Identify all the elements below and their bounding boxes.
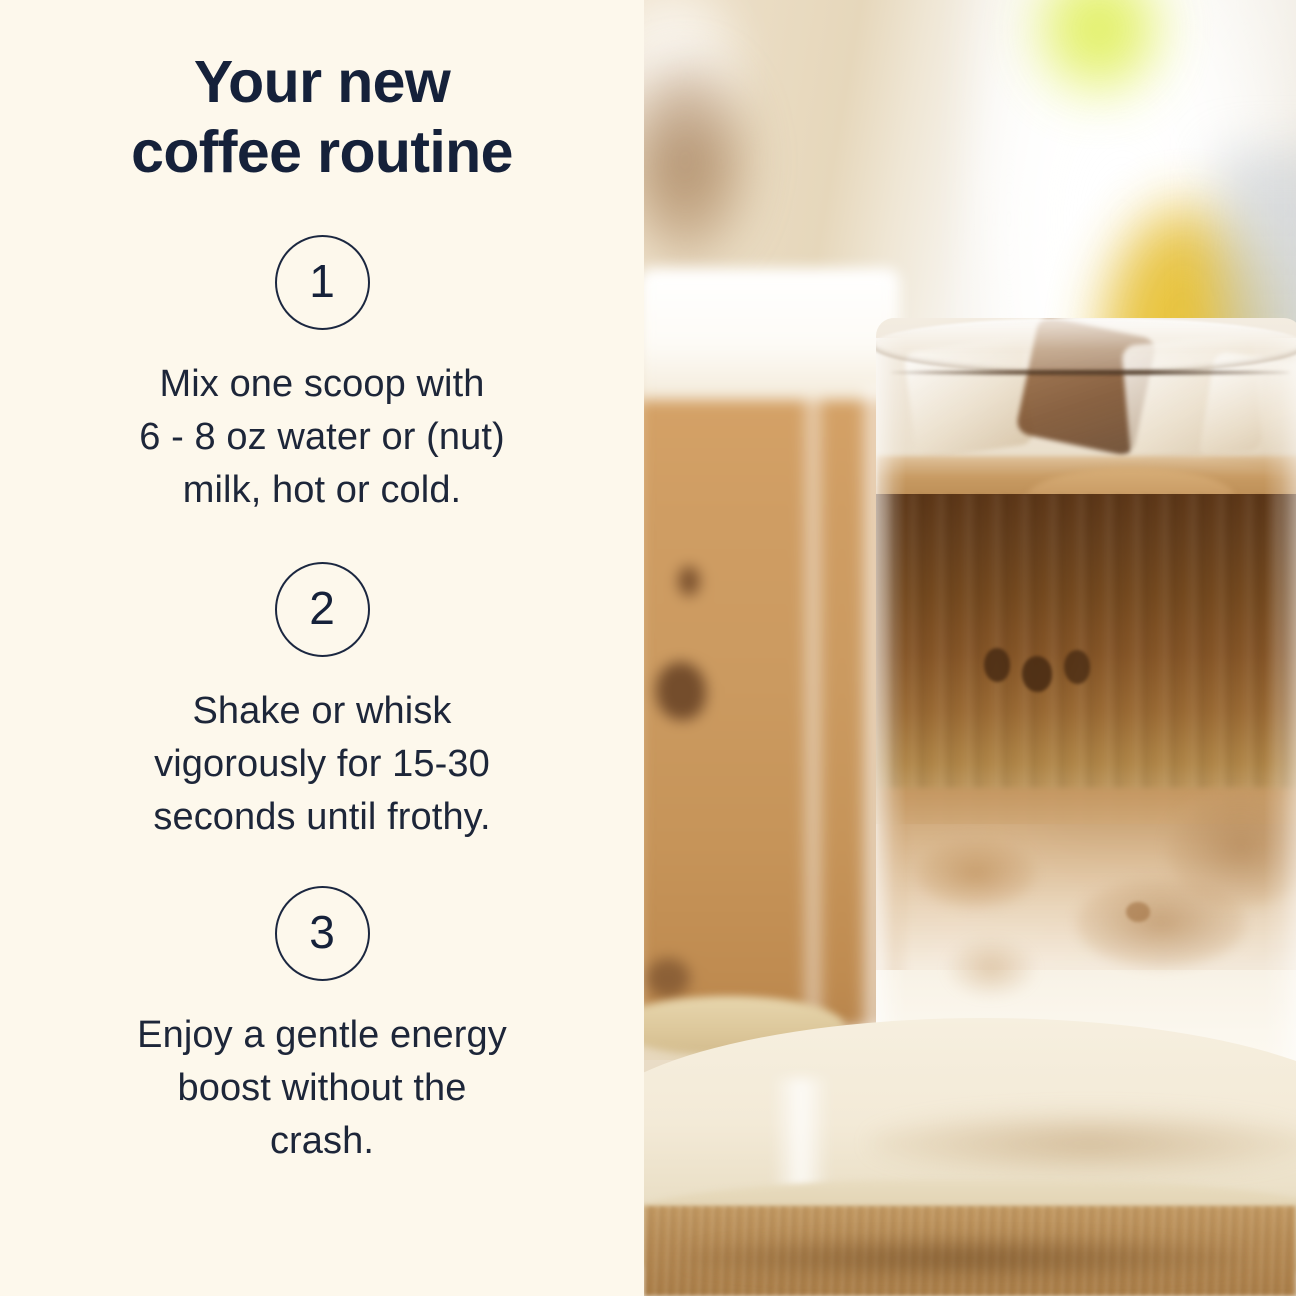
milk-swirl-1	[916, 838, 1036, 908]
tray-shadow	[684, 1238, 1244, 1278]
step-number-1: 1	[309, 258, 335, 304]
step-number-badge-2: 2	[275, 562, 370, 657]
glass-rim-line	[890, 370, 1290, 375]
step-item-2: 2 Shake or whisk vigorously for 15-30 se…	[87, 562, 557, 844]
product-photo	[644, 0, 1296, 1296]
step-number-3: 3	[309, 909, 335, 955]
promo-graphic: Your new coffee routine 1 Mix one scoop …	[0, 0, 1296, 1296]
step-number-badge-1: 1	[275, 235, 370, 330]
background-glass-bean-b	[656, 662, 706, 720]
step-item-1: 1 Mix one scoop with 6 - 8 oz water or (…	[87, 235, 557, 517]
step-1-line-1: Mix one scoop with	[87, 358, 557, 411]
background-glass-foam	[644, 268, 900, 408]
step-item-3: 3 Enjoy a gentle energy boost without th…	[87, 886, 557, 1168]
glass-rim	[876, 318, 1296, 374]
step-description-3: Enjoy a gentle energy boost without the …	[87, 1009, 557, 1168]
coffee-bean-3	[1064, 650, 1090, 684]
step-number-2: 2	[309, 585, 335, 631]
coffee-bean-4	[1126, 902, 1150, 922]
step-number-badge-3: 3	[275, 886, 370, 981]
glass-shadow	[870, 1112, 1296, 1174]
step-1-line-2: 6 - 8 oz water or (nut)	[87, 411, 557, 464]
step-3-line-3: crash.	[87, 1115, 557, 1168]
steps-list: 1 Mix one scoop with 6 - 8 oz water or (…	[42, 187, 602, 1168]
step-3-line-1: Enjoy a gentle energy	[87, 1009, 557, 1062]
background-glass-highlight-a	[800, 398, 826, 1018]
background-glass-bean-c	[646, 958, 690, 998]
step-description-1: Mix one scoop with 6 - 8 oz water or (nu…	[87, 358, 557, 517]
step-1-line-3: milk, hot or cold.	[87, 464, 557, 517]
background-glass-bean-a	[678, 566, 700, 596]
step-2-line-1: Shake or whisk	[87, 685, 557, 738]
step-2-line-3: seconds until frothy.	[87, 791, 557, 844]
milk-swirl-4	[946, 938, 1036, 998]
step-2-line-2: vigorously for 15-30	[87, 738, 557, 791]
step-description-2: Shake or whisk vigorously for 15-30 seco…	[87, 685, 557, 844]
background-latte-glass	[644, 268, 900, 1028]
coffee-bean-2	[1022, 656, 1052, 692]
glass-right-highlight	[1264, 338, 1296, 1150]
page-title-line-1: Your new	[62, 47, 582, 117]
instructions-panel: Your new coffee routine 1 Mix one scoop …	[0, 0, 644, 1296]
page-title: Your new coffee routine	[62, 47, 582, 187]
page-title-line-2: coffee routine	[62, 117, 582, 187]
coffee-bean-1	[984, 648, 1010, 682]
step-3-line-2: boost without the	[87, 1062, 557, 1115]
